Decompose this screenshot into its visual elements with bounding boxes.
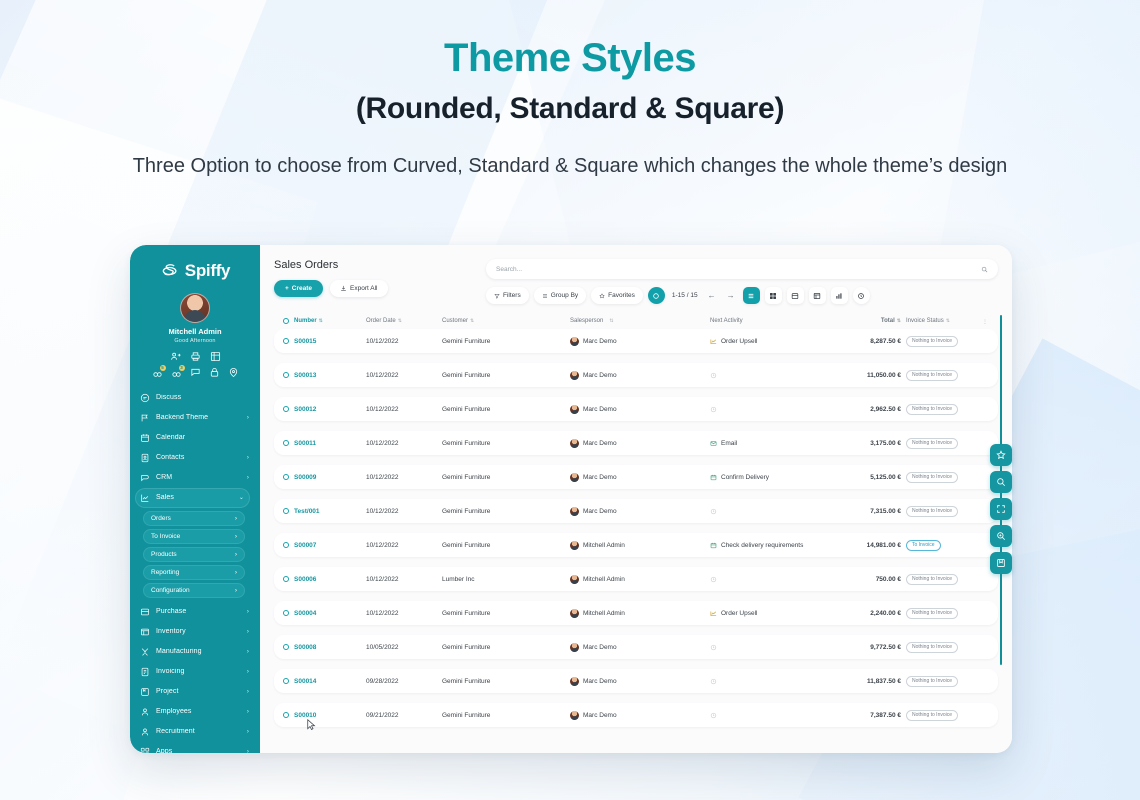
cell-order-date: 10/12/2022 bbox=[366, 338, 442, 345]
clock-icon bbox=[710, 508, 717, 515]
cell-order-date: 10/12/2022 bbox=[366, 474, 442, 481]
chevron-right-icon: › bbox=[235, 551, 237, 558]
status-badge: Nothing to Invoice bbox=[906, 404, 958, 415]
status-badge: Nothing to Invoice bbox=[906, 438, 958, 449]
activity-view-button[interactable] bbox=[853, 287, 870, 304]
export-all-button[interactable]: Export All bbox=[330, 280, 387, 297]
cell-number[interactable]: S00004 bbox=[294, 610, 366, 617]
chevron-right-icon: › bbox=[247, 475, 249, 481]
top-right: Search... Filters Group By Favorites bbox=[486, 259, 998, 304]
sidebar-sublabel: Configuration bbox=[151, 587, 190, 594]
chevron-down-icon: ⌄ bbox=[239, 494, 244, 501]
cell-customer: Gemini Furniture bbox=[442, 406, 570, 413]
cell-customer: Gemini Furniture bbox=[442, 338, 570, 345]
cell-total: 3,175.00 € bbox=[828, 440, 906, 447]
column-header-invoice-status[interactable]: Invoice Status⇅ bbox=[906, 318, 974, 324]
status-badge: To Invoice bbox=[906, 540, 941, 551]
export-label: Export All bbox=[350, 285, 377, 292]
cell-next-activity bbox=[710, 508, 828, 515]
sidebar-label: Calendar bbox=[156, 434, 249, 441]
cell-invoice-status: Nothing to Invoice bbox=[906, 438, 974, 449]
contacts-icon bbox=[140, 453, 150, 463]
sidebar-item-crm[interactable]: CRM › bbox=[130, 468, 255, 488]
cell-next-activity: Order Upsell bbox=[710, 338, 828, 345]
sidebar-label: Manufacturing bbox=[156, 648, 241, 655]
prev-page-button[interactable]: ← bbox=[705, 291, 719, 300]
cell-number[interactable]: S00009 bbox=[294, 474, 366, 481]
cell-next-activity: Confirm Delivery bbox=[710, 474, 828, 481]
pivot-view-button[interactable] bbox=[809, 287, 826, 304]
cell-customer: Gemini Furniture bbox=[442, 678, 570, 685]
clock-icon bbox=[710, 576, 717, 583]
kanban-view-icon bbox=[769, 292, 777, 300]
table-row[interactable]: S0001510/12/2022Gemini FurnitureMarc Dem… bbox=[274, 329, 998, 353]
sidebar-label: Recruitment bbox=[156, 728, 241, 735]
action-buttons: + Create Export All bbox=[274, 280, 474, 297]
sidebar-label: Project bbox=[156, 688, 241, 695]
cell-salesperson: Mitchell Admin bbox=[570, 575, 710, 584]
row-checkbox[interactable] bbox=[278, 712, 294, 718]
clock-icon bbox=[710, 678, 717, 685]
chevron-right-icon: › bbox=[235, 587, 237, 594]
avatar bbox=[570, 405, 579, 414]
favorites-label: Favorites bbox=[608, 292, 635, 299]
row-checkbox[interactable] bbox=[278, 610, 294, 616]
cell-total: 14,981.00 € bbox=[828, 542, 906, 549]
lock-icon[interactable] bbox=[209, 367, 220, 378]
status-badge: Nothing to Invoice bbox=[906, 642, 958, 653]
sidebar-subitem-orders[interactable]: Orders › bbox=[143, 511, 245, 526]
cell-customer: Gemini Furniture bbox=[442, 712, 570, 719]
refresh-button[interactable] bbox=[648, 287, 665, 304]
graph-view-button[interactable] bbox=[831, 287, 848, 304]
sidebar-label: Sales bbox=[156, 494, 233, 501]
download-icon bbox=[340, 285, 347, 292]
status-badge: Nothing to Invoice bbox=[906, 676, 958, 687]
brand-name: Spiffy bbox=[185, 261, 230, 281]
theme-icon bbox=[140, 413, 150, 423]
cell-next-activity bbox=[710, 576, 828, 583]
row-checkbox[interactable] bbox=[278, 338, 294, 344]
cell-invoice-status: Nothing to Invoice bbox=[906, 506, 974, 517]
cell-customer: Gemini Furniture bbox=[442, 372, 570, 379]
create-label: Create bbox=[292, 285, 312, 292]
chevron-right-icon: › bbox=[235, 515, 237, 522]
table-row[interactable]: S0001409/28/2022Gemini FurnitureMarc Dem… bbox=[274, 669, 998, 693]
sidebar-item-purchase[interactable]: Purchase › bbox=[130, 602, 255, 622]
next-page-button[interactable]: → bbox=[724, 291, 738, 300]
chevron-right-icon: › bbox=[247, 689, 249, 695]
user-greeting: Good Afternoon bbox=[130, 338, 260, 344]
search-bar[interactable]: Search... bbox=[486, 259, 998, 279]
cell-order-date: 10/12/2022 bbox=[366, 440, 442, 447]
bookmark-icon bbox=[996, 558, 1006, 568]
select-all-checkbox[interactable] bbox=[278, 318, 294, 324]
row-checkbox[interactable] bbox=[278, 440, 294, 446]
cell-invoice-status: Nothing to Invoice bbox=[906, 404, 974, 415]
user-name: Mitchell Admin bbox=[130, 327, 260, 336]
avatar bbox=[570, 371, 579, 380]
avatar bbox=[570, 473, 579, 482]
sidebar-sublabel: To Invoice bbox=[151, 533, 180, 540]
list-view-button[interactable] bbox=[743, 287, 760, 304]
avatar bbox=[570, 337, 579, 346]
inventory-icon bbox=[140, 627, 150, 637]
row-checkbox[interactable] bbox=[278, 372, 294, 378]
table-row[interactable]: S0000910/12/2022Gemini FurnitureMarc Dem… bbox=[274, 465, 998, 489]
chat-icon[interactable] bbox=[190, 367, 201, 378]
status-badge: Nothing to Invoice bbox=[906, 608, 958, 619]
clock-icon bbox=[710, 372, 717, 379]
group-by-button[interactable]: Group By bbox=[534, 287, 586, 304]
table-row[interactable]: S0000810/05/2022Gemini FurnitureMarc Dem… bbox=[274, 635, 998, 659]
row-checkbox[interactable] bbox=[278, 474, 294, 480]
calendar-icon bbox=[140, 433, 150, 443]
cell-salesperson: Marc Demo bbox=[570, 643, 710, 652]
quick-actions-row-1 bbox=[130, 351, 260, 362]
sidebar-label: Backend Theme bbox=[156, 414, 241, 421]
status-badge: Nothing to Invoice bbox=[906, 710, 958, 721]
chart-icon bbox=[710, 610, 717, 617]
sidebar-item-apps[interactable]: Apps › bbox=[130, 742, 255, 754]
floating-action-rail bbox=[990, 444, 1012, 574]
sidebar-label: Discuss bbox=[156, 394, 249, 401]
column-header-next-activity[interactable]: Next Activity bbox=[710, 318, 828, 324]
cell-total: 11,837.50 € bbox=[828, 678, 906, 685]
cell-next-activity bbox=[710, 644, 828, 651]
cell-total: 8,287.50 € bbox=[828, 338, 906, 345]
messages-badge: 5 bbox=[160, 365, 166, 371]
cell-invoice-status: Nothing to Invoice bbox=[906, 710, 974, 721]
column-header-customer[interactable]: Customer⇅ bbox=[442, 318, 570, 324]
avatar bbox=[570, 541, 579, 550]
cell-next-activity: Email bbox=[710, 440, 828, 447]
cell-number[interactable]: S00006 bbox=[294, 576, 366, 583]
sidebar-label: Apps bbox=[156, 748, 241, 753]
group-by-label: Group By bbox=[551, 292, 578, 299]
clock-icon bbox=[710, 712, 717, 719]
employees-icon bbox=[140, 707, 150, 717]
pager-count: 1-15 / 15 bbox=[670, 292, 700, 299]
fullscreen-icon bbox=[996, 504, 1006, 514]
row-checkbox[interactable] bbox=[278, 644, 294, 650]
sidebar-item-manufacturing[interactable]: Manufacturing › bbox=[130, 642, 255, 662]
filters-button[interactable]: Filters bbox=[486, 287, 529, 304]
search-icon[interactable] bbox=[981, 266, 988, 273]
calendar-view-button[interactable] bbox=[787, 287, 804, 304]
cell-customer: Gemini Furniture bbox=[442, 610, 570, 617]
print-icon[interactable] bbox=[190, 351, 201, 362]
chevron-right-icon: › bbox=[247, 629, 249, 635]
chart-icon bbox=[710, 338, 717, 345]
crm-icon bbox=[140, 473, 150, 483]
star-fab[interactable] bbox=[990, 444, 1012, 466]
calendar-icon bbox=[710, 542, 717, 549]
cell-number[interactable]: S00013 bbox=[294, 372, 366, 379]
brand[interactable]: Spiffy bbox=[130, 255, 260, 291]
sidebar-item-invoicing[interactable]: Invoicing › bbox=[130, 662, 255, 682]
sidebar-item-project[interactable]: Project › bbox=[130, 682, 255, 702]
cell-next-activity: Order Upsell bbox=[710, 610, 828, 617]
cell-invoice-status: Nothing to Invoice bbox=[906, 574, 974, 585]
sidebar-subitem-configuration[interactable]: Configuration › bbox=[143, 583, 245, 598]
avatar bbox=[570, 711, 579, 720]
table-row[interactable]: Test/00110/12/2022Gemini FurnitureMarc D… bbox=[274, 499, 998, 523]
cell-number[interactable]: S00007 bbox=[294, 542, 366, 549]
cell-salesperson: Marc Demo bbox=[570, 677, 710, 686]
column-header-number[interactable]: Number⇅ bbox=[294, 318, 366, 324]
cell-order-date: 10/12/2022 bbox=[366, 372, 442, 379]
column-header-salesperson[interactable]: Salesperson⇅ bbox=[570, 318, 710, 324]
cell-total: 9,772.50 € bbox=[828, 644, 906, 651]
cell-invoice-status: Nothing to Invoice bbox=[906, 642, 974, 653]
avatar bbox=[570, 507, 579, 516]
cell-order-date: 10/12/2022 bbox=[366, 508, 442, 515]
status-badge: Nothing to Invoice bbox=[906, 370, 958, 381]
cell-number[interactable]: S00015 bbox=[294, 338, 366, 345]
sidebar-subitem-reporting[interactable]: Reporting › bbox=[143, 565, 245, 580]
sidebar-item-sales[interactable]: Sales ⌄ bbox=[135, 488, 250, 508]
cell-order-date: 10/12/2022 bbox=[366, 576, 442, 583]
sidebar-item-inventory[interactable]: Inventory › bbox=[130, 622, 255, 642]
pivot-view-icon bbox=[813, 292, 821, 300]
main-content: Sales Orders + Create Export All Search.… bbox=[260, 245, 1012, 753]
cell-invoice-status: Nothing to Invoice bbox=[906, 370, 974, 381]
sidebar-label: CRM bbox=[156, 474, 241, 481]
table-row[interactable]: S0000710/12/2022Gemini FurnitureMitchell… bbox=[274, 533, 998, 557]
table-row[interactable]: S0001310/12/2022Gemini FurnitureMarc Dem… bbox=[274, 363, 998, 387]
cell-number[interactable]: S00011 bbox=[294, 440, 366, 447]
chevron-right-icon: › bbox=[247, 649, 249, 655]
cell-number[interactable]: Test/001 bbox=[294, 508, 366, 515]
cell-total: 7,315.00 € bbox=[828, 508, 906, 515]
cell-number[interactable]: S00014 bbox=[294, 678, 366, 685]
chevron-right-icon: › bbox=[247, 749, 249, 754]
discuss-icon bbox=[140, 393, 150, 403]
purchase-icon bbox=[140, 607, 150, 617]
sidebar-sublabel: Orders bbox=[151, 515, 171, 522]
sidebar-label: Purchase bbox=[156, 608, 241, 615]
breadcrumb: Sales Orders bbox=[274, 259, 474, 271]
column-header-total[interactable]: Total⇅ bbox=[828, 318, 906, 324]
cell-total: 2,962.50 € bbox=[828, 406, 906, 413]
user-block: Mitchell Admin Good Afternoon bbox=[130, 293, 260, 344]
recruitment-icon bbox=[140, 727, 150, 737]
sidebar-sublabel: Products bbox=[151, 551, 177, 558]
cell-customer: Gemini Furniture bbox=[442, 440, 570, 447]
star-icon bbox=[996, 450, 1006, 460]
kanban-view-button[interactable] bbox=[765, 287, 782, 304]
invoicing-icon bbox=[140, 667, 150, 677]
top-left: Sales Orders + Create Export All bbox=[274, 259, 474, 304]
cell-invoice-status: Nothing to Invoice bbox=[906, 472, 974, 483]
clock-icon bbox=[710, 644, 717, 651]
avatar bbox=[570, 609, 579, 618]
sidebar-label: Inventory bbox=[156, 628, 241, 635]
page-subtitle: (Rounded, Standard & Square) bbox=[0, 92, 1140, 126]
cell-number[interactable]: S00012 bbox=[294, 406, 366, 413]
avatar bbox=[570, 575, 579, 584]
email-icon bbox=[710, 440, 717, 447]
status-badge: Nothing to Invoice bbox=[906, 506, 958, 517]
sidebar-label: Invoicing bbox=[156, 668, 241, 675]
cell-customer: Gemini Furniture bbox=[442, 474, 570, 481]
row-checkbox[interactable] bbox=[278, 576, 294, 582]
chevron-right-icon: › bbox=[247, 609, 249, 615]
cell-salesperson: Marc Demo bbox=[570, 371, 710, 380]
cell-invoice-status: To Invoice bbox=[906, 540, 974, 551]
sidebar-item-recruitment[interactable]: Recruitment › bbox=[130, 722, 255, 742]
cell-customer: Lumber Inc bbox=[442, 576, 570, 583]
sales-icon bbox=[140, 493, 150, 503]
plus-icon: + bbox=[285, 285, 289, 292]
cell-invoice-status: Nothing to Invoice bbox=[906, 608, 974, 619]
cell-next-activity bbox=[710, 406, 828, 413]
apps-grid-icon[interactable] bbox=[210, 351, 221, 362]
cell-customer: Gemini Furniture bbox=[442, 542, 570, 549]
table-row[interactable]: S0000410/12/2022Gemini FurnitureMitchell… bbox=[274, 601, 998, 625]
table-body: S0001510/12/2022Gemini FurnitureMarc Dem… bbox=[274, 329, 998, 727]
row-checkbox[interactable] bbox=[278, 406, 294, 412]
status-badge: Nothing to Invoice bbox=[906, 472, 958, 483]
row-checkbox[interactable] bbox=[278, 542, 294, 548]
sidebar-item-backend-theme[interactable]: Backend Theme › bbox=[130, 408, 255, 428]
chevron-right-icon: › bbox=[235, 533, 237, 540]
chevron-right-icon: › bbox=[247, 669, 249, 675]
column-header-order-date[interactable]: Order Date⇅ bbox=[366, 318, 442, 324]
table-row[interactable]: S0001009/21/2022Gemini FurnitureMarc Dem… bbox=[274, 703, 998, 727]
apps-icon bbox=[140, 747, 150, 754]
sidebar-item-employees[interactable]: Employees › bbox=[130, 702, 255, 722]
chevron-right-icon: › bbox=[247, 415, 249, 421]
orders-table: Number⇅ Order Date⇅ Customer⇅ Salesperso… bbox=[260, 313, 1012, 753]
group-by-icon bbox=[542, 293, 548, 299]
cell-customer: Gemini Furniture bbox=[442, 508, 570, 515]
row-checkbox[interactable] bbox=[278, 508, 294, 514]
cell-total: 2,240.00 € bbox=[828, 610, 906, 617]
graph-view-icon bbox=[835, 292, 843, 300]
sidebar-label: Contacts bbox=[156, 454, 241, 461]
calendar-icon bbox=[710, 474, 717, 481]
sidebar-menu: Discuss Backend Theme › Calendar Contact… bbox=[130, 388, 260, 754]
spiffy-logo-icon bbox=[160, 261, 180, 281]
table-row[interactable]: S0001110/12/2022Gemini FurnitureMarc Dem… bbox=[274, 431, 998, 455]
mouse-cursor bbox=[307, 719, 316, 731]
filters-label: Filters bbox=[503, 292, 521, 299]
cell-total: 750.00 € bbox=[828, 576, 906, 583]
sidebar-subitem-to-invoice[interactable]: To Invoice › bbox=[143, 529, 245, 544]
calendar-view-icon bbox=[791, 292, 799, 300]
filter-icon bbox=[494, 293, 500, 299]
activity-view-icon bbox=[857, 292, 865, 300]
chevron-right-icon: › bbox=[247, 455, 249, 461]
cell-order-date: 09/28/2022 bbox=[366, 678, 442, 685]
row-checkbox[interactable] bbox=[278, 678, 294, 684]
list-view-icon bbox=[747, 292, 755, 300]
cell-salesperson: Marc Demo bbox=[570, 711, 710, 720]
avatar bbox=[570, 439, 579, 448]
search-icon bbox=[996, 477, 1006, 487]
cell-salesperson: Marc Demo bbox=[570, 439, 710, 448]
zoom-fab[interactable] bbox=[990, 525, 1012, 547]
create-button[interactable]: + Create bbox=[274, 280, 323, 297]
sidebar-subitem-products[interactable]: Products › bbox=[143, 547, 245, 562]
sidebar-item-discuss[interactable]: Discuss bbox=[130, 388, 255, 408]
chevron-right-icon: › bbox=[235, 569, 237, 576]
cell-next-activity bbox=[710, 678, 828, 685]
zoom-icon bbox=[996, 531, 1006, 541]
cell-number[interactable]: S00010 bbox=[294, 712, 366, 719]
cell-total: 11,050.00 € bbox=[828, 372, 906, 379]
search-fab[interactable] bbox=[990, 471, 1012, 493]
page-description: Three Option to choose from Curved, Stan… bbox=[0, 152, 1140, 180]
control-row: Filters Group By Favorites 1-15 / 15 ← bbox=[486, 287, 998, 304]
cell-salesperson: Marc Demo bbox=[570, 473, 710, 482]
user-switch-icon[interactable] bbox=[170, 351, 181, 362]
cell-customer: Gemini Furniture bbox=[442, 644, 570, 651]
sidebar-item-contacts[interactable]: Contacts › bbox=[130, 448, 255, 468]
cell-order-date: 10/05/2022 bbox=[366, 644, 442, 651]
table-header-row: Number⇅ Order Date⇅ Customer⇅ Salesperso… bbox=[274, 313, 998, 329]
cell-number[interactable]: S00008 bbox=[294, 644, 366, 651]
cell-order-date: 09/21/2022 bbox=[366, 712, 442, 719]
top-bar: Sales Orders + Create Export All Search.… bbox=[260, 245, 1012, 304]
chevron-right-icon: › bbox=[247, 709, 249, 715]
manufacturing-icon bbox=[140, 647, 150, 657]
cell-next-activity: Check delivery requirements bbox=[710, 542, 828, 549]
cell-order-date: 10/12/2022 bbox=[366, 542, 442, 549]
table-row[interactable]: S0000610/12/2022Lumber IncMitchell Admin… bbox=[274, 567, 998, 591]
cell-total: 5,125.00 € bbox=[828, 474, 906, 481]
chevron-right-icon: › bbox=[247, 729, 249, 735]
cell-order-date: 10/12/2022 bbox=[366, 406, 442, 413]
status-badge: Nothing to Invoice bbox=[906, 574, 958, 585]
activity-icon[interactable]: 3 bbox=[171, 367, 182, 378]
cell-next-activity bbox=[710, 712, 828, 719]
fullscreen-fab[interactable] bbox=[990, 498, 1012, 520]
avatar bbox=[570, 677, 579, 686]
search-input[interactable]: Search... bbox=[496, 266, 981, 273]
project-icon bbox=[140, 687, 150, 697]
page-title: Theme Styles bbox=[0, 36, 1140, 80]
cell-salesperson: Mitchell Admin bbox=[570, 541, 710, 550]
avatar bbox=[570, 643, 579, 652]
cell-salesperson: Marc Demo bbox=[570, 337, 710, 346]
sidebar-sublabel: Reporting bbox=[151, 569, 179, 576]
cell-salesperson: Mitchell Admin bbox=[570, 609, 710, 618]
pin-icon[interactable] bbox=[228, 367, 239, 378]
avatar[interactable] bbox=[180, 293, 210, 323]
messages-icon[interactable]: 5 bbox=[152, 367, 163, 378]
app-window: Spiffy Mitchell Admin Good Afternoon 5 3 bbox=[130, 245, 1012, 753]
column-options-icon[interactable]: ⋮ bbox=[974, 318, 988, 325]
cell-invoice-status: Nothing to Invoice bbox=[906, 336, 974, 347]
cell-next-activity bbox=[710, 372, 828, 379]
clock-icon bbox=[710, 406, 717, 413]
refresh-icon bbox=[652, 292, 660, 300]
status-badge: Nothing to Invoice bbox=[906, 336, 958, 347]
bookmark-fab[interactable] bbox=[990, 552, 1012, 574]
quick-actions-row-2: 5 3 bbox=[130, 367, 260, 378]
sidebar-item-calendar[interactable]: Calendar bbox=[130, 428, 255, 448]
favorites-button[interactable]: Favorites bbox=[591, 287, 643, 304]
sidebar-label: Employees bbox=[156, 708, 241, 715]
table-row[interactable]: S0001210/12/2022Gemini FurnitureMarc Dem… bbox=[274, 397, 998, 421]
cell-salesperson: Marc Demo bbox=[570, 405, 710, 414]
activity-badge: 3 bbox=[179, 365, 185, 371]
cell-order-date: 10/12/2022 bbox=[366, 610, 442, 617]
sidebar: Spiffy Mitchell Admin Good Afternoon 5 3 bbox=[130, 245, 260, 753]
